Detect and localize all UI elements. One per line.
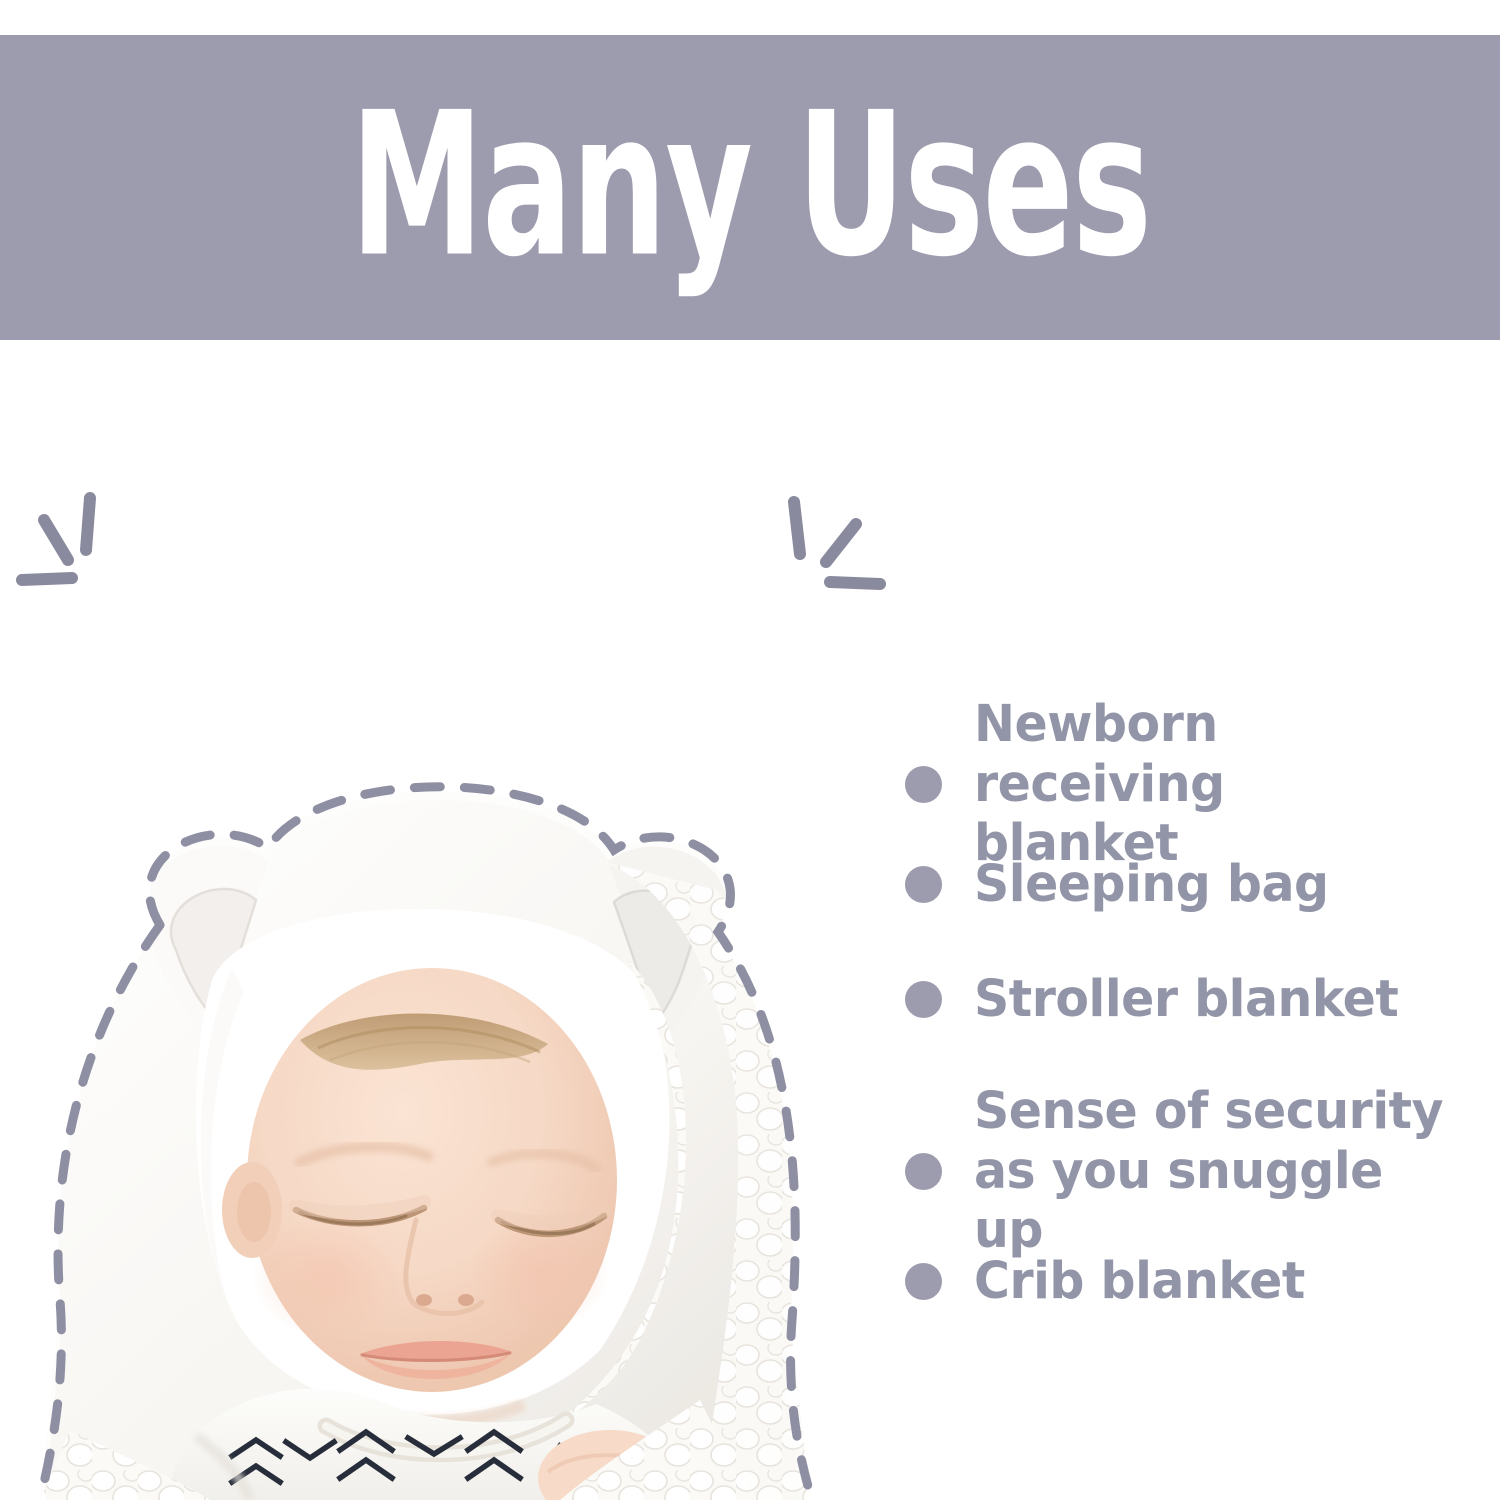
page-title: Many Uses bbox=[350, 85, 1150, 283]
list-item: Sense of security as you snuggle up bbox=[905, 1082, 1485, 1261]
list-item-label: Crib blanket bbox=[974, 1252, 1305, 1312]
list-item-label: Sleeping bag bbox=[974, 855, 1329, 915]
list-item: Crib blanket bbox=[905, 1252, 1485, 1312]
list-item: Sleeping bag bbox=[905, 855, 1485, 915]
bullet-icon bbox=[905, 1263, 942, 1300]
baby-blanket-photo-illustration bbox=[0, 420, 900, 1500]
bullet-icon bbox=[905, 766, 942, 803]
bullet-icon bbox=[905, 1153, 942, 1190]
list-item: Stroller blanket bbox=[905, 970, 1485, 1030]
sparkle-marks-left bbox=[22, 498, 90, 580]
product-photo bbox=[0, 420, 900, 1500]
bullet-icon bbox=[905, 866, 942, 903]
list-item-label: Stroller blanket bbox=[974, 970, 1398, 1030]
photo-content bbox=[0, 420, 900, 1500]
header-banner: Many Uses bbox=[0, 35, 1500, 340]
bullet-icon bbox=[905, 981, 942, 1018]
list-item-label: Sense of security as you snuggle up bbox=[974, 1082, 1465, 1261]
list-item-label: Newborn receiving blanket bbox=[974, 695, 1465, 874]
list-item: Newborn receiving blanket bbox=[905, 695, 1485, 874]
sparkle-marks-right bbox=[794, 502, 880, 584]
